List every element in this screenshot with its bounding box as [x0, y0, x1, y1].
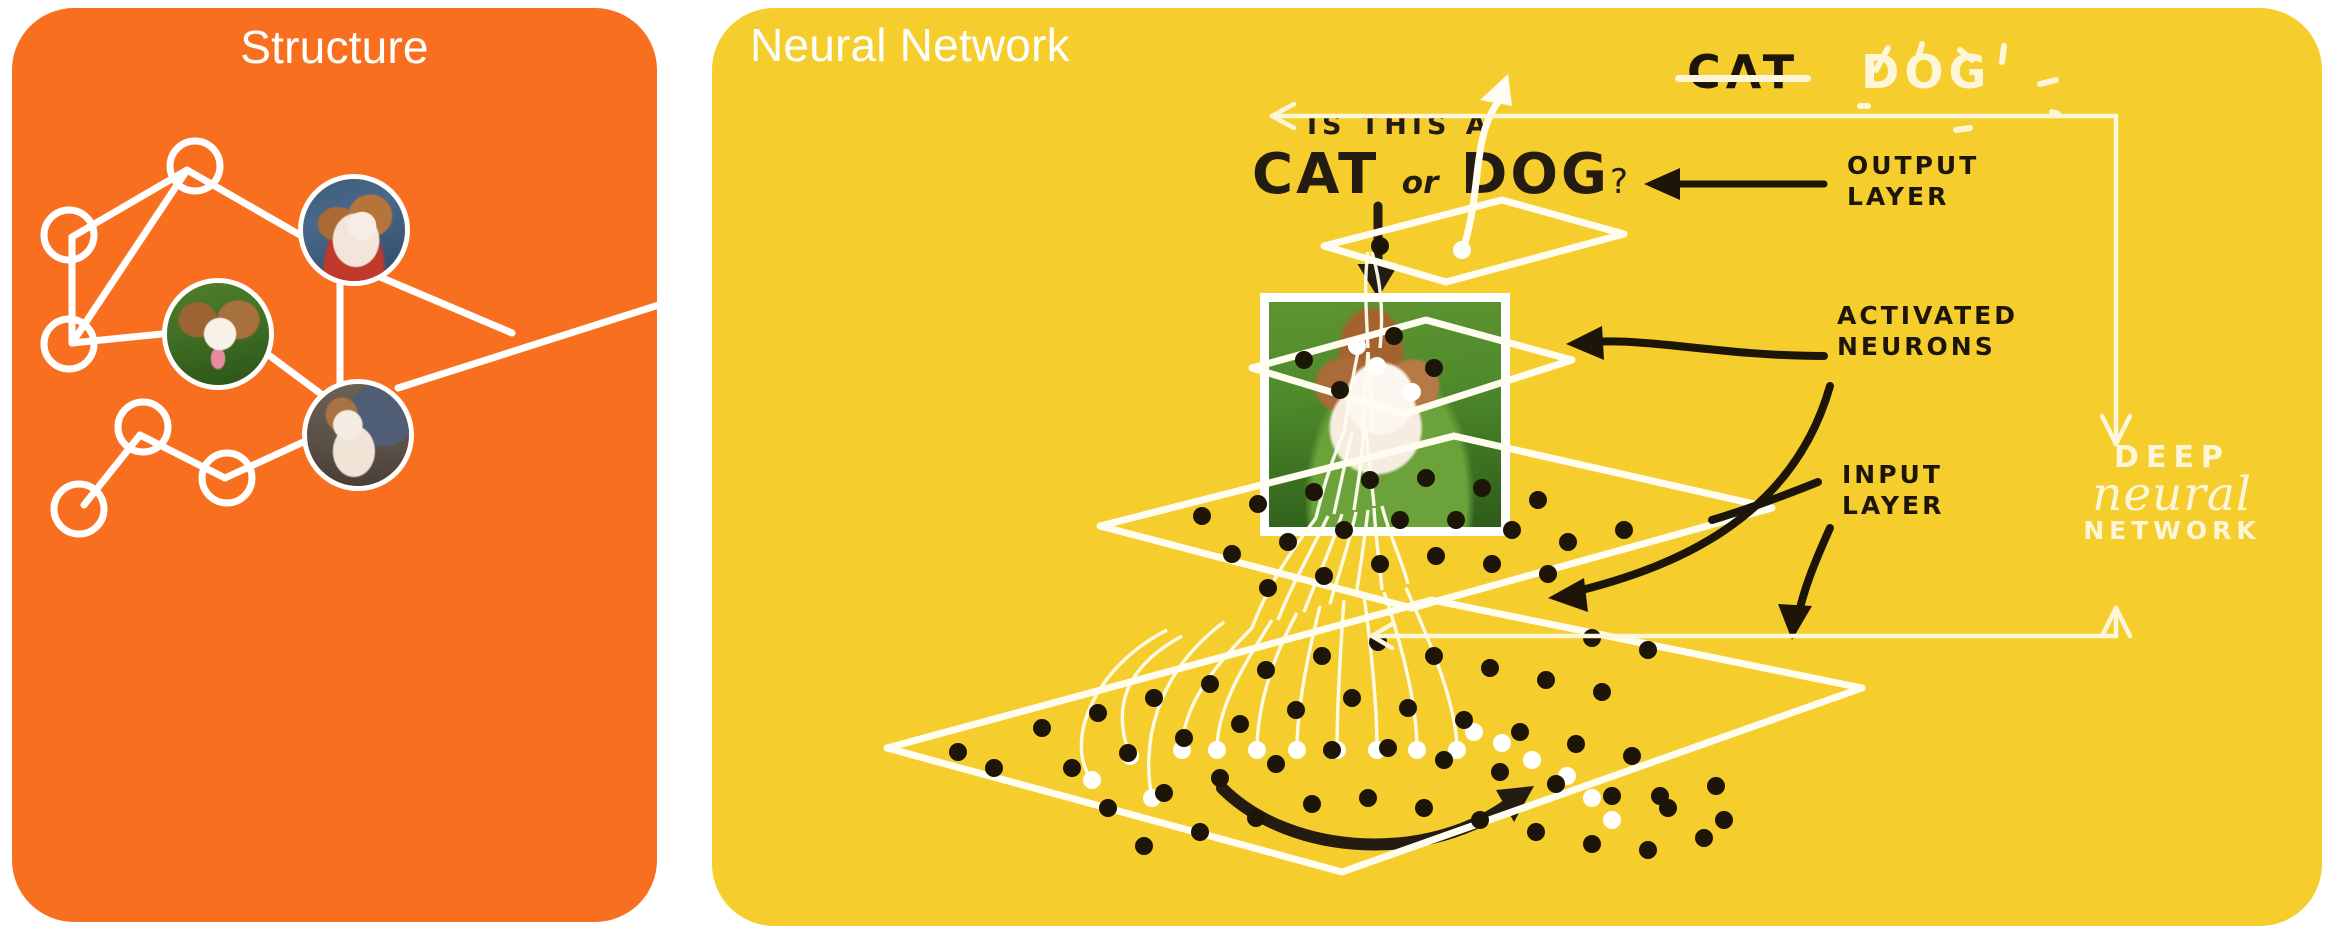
label-pointer-arrows — [1548, 168, 1830, 640]
label-input-layer: INPUT LAYER — [1842, 460, 1944, 521]
hidden-layer-1-plane — [1100, 436, 1772, 608]
label-activated-neurons-line1: ACTIVATED — [1837, 301, 2018, 332]
neural-network-panel: Neural Network CATDOG IS THIS A CAT or D… — [712, 8, 2322, 926]
hidden-layer-2-activated — [1348, 337, 1421, 401]
graph-node — [118, 402, 168, 452]
graph-node — [170, 141, 220, 191]
structure-panel: Structure — [12, 8, 657, 922]
label-activated-neurons-line2: NEURONS — [1837, 332, 2018, 363]
label-input-layer-line2: LAYER — [1842, 491, 1944, 522]
output-to-verdict-arrow-icon — [1464, 74, 1512, 246]
output-neuron-cat — [1371, 237, 1389, 255]
panel-connector-line — [380, 240, 740, 440]
activated-neuron-endpoints — [1083, 723, 1621, 829]
label-output-layer: OUTPUT LAYER — [1847, 151, 1979, 212]
graph-node — [54, 484, 104, 534]
input-layer-plane — [887, 600, 1862, 872]
bulldog-photo-b — [167, 283, 269, 385]
poster-canvas: Structure — [0, 0, 2330, 936]
label-output-layer-line2: LAYER — [1847, 182, 1979, 213]
hidden-layer-2-plane — [1252, 320, 1572, 414]
deep-neural-network-callout: DEEP neural NETWORK — [2052, 440, 2292, 545]
graph-photo-node-center[interactable] — [162, 278, 274, 390]
callout-line-network: NETWORK — [2052, 516, 2292, 545]
label-activated-neurons: ACTIVATED NEURONS — [1837, 301, 2018, 362]
callout-line-neural: neural — [2052, 473, 2292, 518]
label-input-layer-line1: INPUT — [1842, 460, 1944, 491]
label-output-layer-line1: OUTPUT — [1847, 151, 1979, 182]
